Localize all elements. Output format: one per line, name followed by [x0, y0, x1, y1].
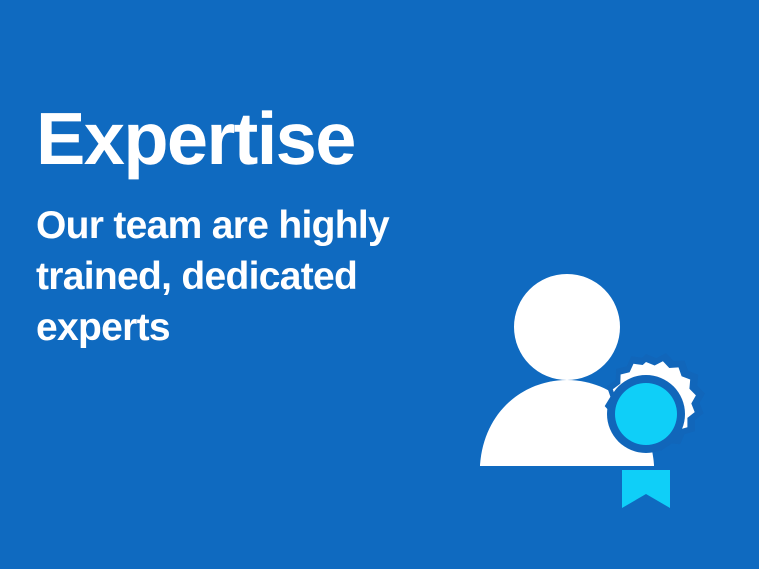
person-with-award-badge-icon	[462, 258, 712, 513]
page-subtitle: Our team are highly trained, dedicated e…	[36, 200, 466, 353]
text-block: Expertise Our team are highly trained, d…	[36, 100, 506, 353]
expertise-slide: Expertise Our team are highly trained, d…	[0, 0, 759, 569]
ribbon-icon	[622, 470, 670, 508]
page-title: Expertise	[36, 100, 506, 178]
